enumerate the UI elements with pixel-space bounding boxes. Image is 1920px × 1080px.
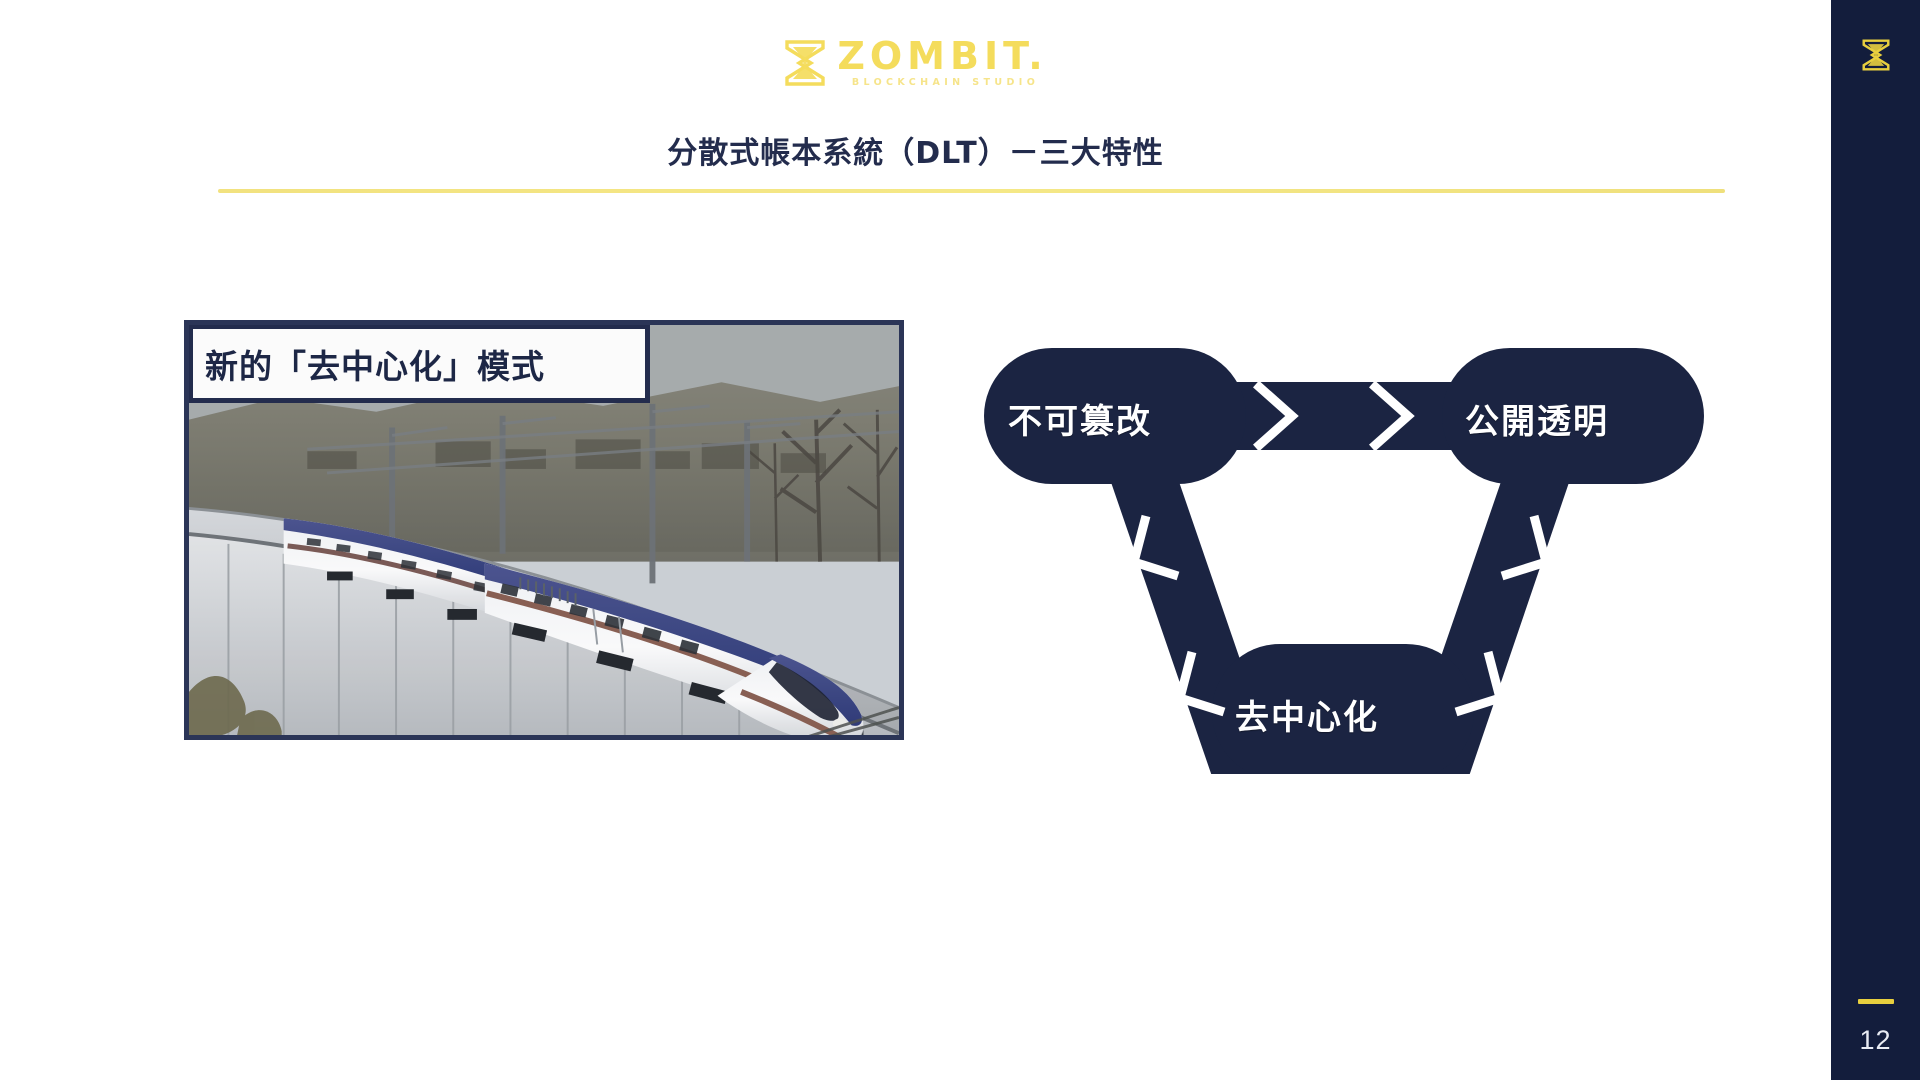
node-label-transparency: 公開透明 xyxy=(1465,394,1609,443)
zombit-hourglass-z-logo-icon xyxy=(1861,38,1891,72)
page-number: 12 xyxy=(1859,1025,1891,1056)
photo-panel: 新的「去中心化」模式 xyxy=(184,320,904,740)
brand-logo: ZOMBIT. BLOCKCHAIN STUDIO xyxy=(0,38,1831,88)
node-label-immutability: 不可篡改 xyxy=(1008,394,1152,443)
title-divider xyxy=(218,189,1725,193)
photo-caption: 新的「去中心化」模式 xyxy=(188,324,650,403)
photo-caption-text: 新的「去中心化」模式 xyxy=(193,340,545,388)
page-title: 分散式帳本系統（DLT）－三大特性 xyxy=(0,128,1831,172)
node-label-decentralized: 去中心化 xyxy=(1235,690,1379,739)
slide-side-rail: 12 xyxy=(1831,0,1920,1080)
zombit-hourglass-z-logo-icon xyxy=(783,39,827,87)
slide-canvas: ZOMBIT. BLOCKCHAIN STUDIO 分散式帳本系統（DLT）－三… xyxy=(0,0,1831,1080)
three-properties-diagram: 不可篡改 公開透明 去中心化 xyxy=(960,318,1720,774)
brand-wordmark: ZOMBIT. xyxy=(837,38,1047,74)
brand-tagline: BLOCKCHAIN STUDIO xyxy=(846,77,1039,88)
page-number-dash xyxy=(1858,999,1894,1004)
brand-text: ZOMBIT. BLOCKCHAIN STUDIO xyxy=(837,38,1047,88)
